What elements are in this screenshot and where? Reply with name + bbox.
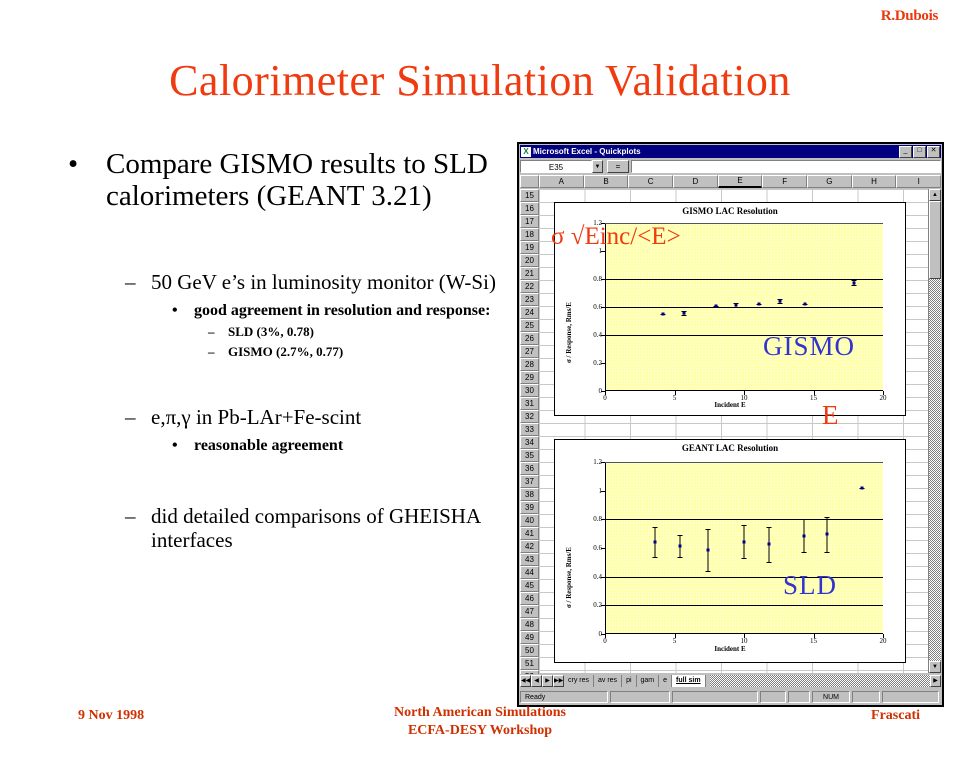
page-title: Calorimeter Simulation Validation bbox=[0, 55, 960, 106]
error-bar-cap bbox=[767, 527, 772, 528]
column-header-row: A B C D E F G H I bbox=[520, 175, 941, 188]
select-all-corner[interactable] bbox=[520, 175, 539, 188]
row-header-19[interactable]: 19 bbox=[520, 241, 539, 254]
data-point bbox=[706, 549, 709, 552]
excel-title-bar[interactable]: X Microsoft Excel - Quickplots _ □ ✕ bbox=[520, 145, 941, 158]
column-header-i[interactable]: I bbox=[896, 175, 941, 188]
plot-top-border bbox=[605, 462, 883, 463]
column-header-a[interactable]: A bbox=[539, 175, 584, 188]
maximize-button[interactable]: □ bbox=[913, 146, 926, 158]
excel-app-icon: X bbox=[521, 147, 531, 157]
bullet-marker-dot: • bbox=[172, 437, 194, 456]
bullet-marker-dash: – bbox=[208, 324, 228, 340]
y-tick-mark bbox=[601, 462, 605, 463]
error-bar-cap bbox=[678, 557, 683, 558]
row-header-27[interactable]: 27 bbox=[520, 345, 539, 358]
row-header-47[interactable]: 47 bbox=[520, 605, 539, 618]
row-header-29[interactable]: 29 bbox=[520, 371, 539, 384]
scrollbar-thumb[interactable] bbox=[929, 201, 941, 279]
data-point bbox=[758, 302, 761, 305]
bullet-level2-pblar: – e,π,γ in Pb-LAr+Fe-scint bbox=[125, 406, 498, 430]
bullet-level3-agreement: • good agreement in resolution and respo… bbox=[172, 302, 498, 321]
bullet-level4-sld: – SLD (3%, 0.78) bbox=[208, 324, 498, 340]
gismo-watermark: GISMO bbox=[763, 331, 855, 362]
bullet-level1-main: • Compare GISMO results to SLD calorimet… bbox=[68, 148, 498, 213]
data-point bbox=[852, 281, 855, 284]
row-header-37[interactable]: 37 bbox=[520, 475, 539, 488]
minimize-button[interactable]: _ bbox=[899, 146, 912, 158]
sheet-pane[interactable]: GISMO LAC Resolution 00.20.40.60.811.205… bbox=[539, 189, 928, 673]
y-tick-mark bbox=[601, 335, 605, 336]
data-point bbox=[802, 534, 805, 537]
x-tick-mark bbox=[605, 391, 606, 395]
sheet-tab-bar[interactable]: ◀◀ ◀ ▶ ▶▶ cry res av res pi gam e full s… bbox=[520, 674, 941, 688]
worksheet-area[interactable]: 1516171819202122232425262728293031323334… bbox=[520, 189, 941, 673]
horizontal-scrollbar[interactable] bbox=[710, 675, 930, 687]
formula-input[interactable] bbox=[631, 160, 941, 173]
error-bar-cap bbox=[733, 307, 738, 308]
status-bar: Ready NUM bbox=[520, 689, 941, 704]
error-bar-cap bbox=[682, 315, 687, 316]
bullet-marker-dash: – bbox=[125, 271, 151, 295]
row-header-34[interactable]: 34 bbox=[520, 436, 539, 449]
status-text: Ready bbox=[520, 691, 608, 703]
x-tick-mark bbox=[883, 634, 884, 638]
bullet-marker-dot: • bbox=[172, 302, 194, 321]
chart-title-geant: GEANT LAC Resolution bbox=[555, 443, 905, 453]
status-pane-6 bbox=[882, 691, 939, 703]
data-point bbox=[861, 486, 864, 489]
error-bar-cap bbox=[767, 562, 772, 563]
equals-icon[interactable]: = bbox=[607, 160, 629, 173]
bullet-level3-text-reasonable: reasonable agreement bbox=[194, 437, 343, 456]
bullet-level1-text: Compare GISMO results to SLD calorimeter… bbox=[106, 148, 498, 213]
bullet-level4-text-sld: SLD (3%, 0.78) bbox=[228, 324, 314, 340]
y-tick-mark bbox=[601, 307, 605, 308]
row-header-38[interactable]: 38 bbox=[520, 488, 539, 501]
status-pane-5 bbox=[852, 691, 880, 703]
footer-event-line2: ECFA-DESY Workshop bbox=[0, 722, 960, 740]
bullet-level2-text-gheisha: did detailed comparisons of GHEISHA inte… bbox=[151, 505, 498, 553]
x-tick-label: 10 bbox=[741, 637, 748, 645]
column-header-f[interactable]: F bbox=[762, 175, 807, 188]
x-tick-mark bbox=[883, 391, 884, 395]
row-header-15[interactable]: 15 bbox=[520, 189, 539, 202]
row-header-column: 1516171819202122232425262728293031323334… bbox=[520, 189, 539, 673]
error-bar-cap bbox=[742, 525, 747, 526]
tab-nav-next[interactable]: ▶ bbox=[542, 675, 553, 687]
footer-event-line1: North American Simulations bbox=[0, 704, 960, 722]
x-tick-label: 5 bbox=[673, 637, 677, 645]
row-header-40[interactable]: 40 bbox=[520, 514, 539, 527]
row-header-50[interactable]: 50 bbox=[520, 644, 539, 657]
scrollbar-track[interactable] bbox=[929, 279, 941, 661]
column-header-d[interactable]: D bbox=[673, 175, 718, 188]
data-point bbox=[683, 311, 686, 314]
x-axis-label-gismo: Incident E bbox=[555, 401, 905, 409]
sheet-tab-full-sim[interactable]: full sim bbox=[672, 675, 706, 687]
x-axis-label-geant: Incident E bbox=[555, 645, 905, 653]
y-axis-label-geant: σ / Response, Rms/E bbox=[565, 458, 573, 608]
bullet-level4-gismo: – GISMO (2.7%, 0.77) bbox=[208, 344, 498, 360]
status-num-indicator: NUM bbox=[812, 691, 850, 703]
data-point bbox=[662, 313, 665, 316]
row-header-16[interactable]: 16 bbox=[520, 202, 539, 215]
row-header-30[interactable]: 30 bbox=[520, 384, 539, 397]
bullet-marker-dash: – bbox=[208, 344, 228, 360]
bullet-list: • Compare GISMO results to SLD calorimet… bbox=[68, 148, 498, 553]
data-point bbox=[734, 303, 737, 306]
row-header-35[interactable]: 35 bbox=[520, 449, 539, 462]
data-point bbox=[743, 540, 746, 543]
row-header-33[interactable]: 33 bbox=[520, 423, 539, 436]
bullet-marker-dot: • bbox=[68, 148, 106, 213]
sheet-tab-cry-res[interactable]: cry res bbox=[564, 675, 594, 687]
column-header-e[interactable]: E bbox=[718, 175, 763, 188]
row-header-20[interactable]: 20 bbox=[520, 254, 539, 267]
row-header-44[interactable]: 44 bbox=[520, 566, 539, 579]
row-header-25[interactable]: 25 bbox=[520, 319, 539, 332]
row-header-45[interactable]: 45 bbox=[520, 579, 539, 592]
y-tick-mark bbox=[601, 519, 605, 520]
excel-window-title: Microsoft Excel - Quickplots bbox=[531, 147, 898, 156]
error-bar-cap bbox=[801, 519, 806, 520]
y-tick-mark bbox=[601, 577, 605, 578]
row-header-24[interactable]: 24 bbox=[520, 306, 539, 319]
row-header-39[interactable]: 39 bbox=[520, 501, 539, 514]
status-pane-1 bbox=[610, 691, 670, 703]
error-bar-cap bbox=[653, 527, 658, 528]
footer-event: North American Simulations ECFA-DESY Wor… bbox=[0, 704, 960, 740]
x-tick-mark bbox=[744, 391, 745, 395]
chart-title-gismo: GISMO LAC Resolution bbox=[555, 206, 905, 216]
x-tick-mark bbox=[605, 634, 606, 638]
row-header-41[interactable]: 41 bbox=[520, 527, 539, 540]
bullet-level2-text-pblar: e,π,γ in Pb-LAr+Fe-scint bbox=[151, 406, 361, 430]
bullet-level2-gheisha: – did detailed comparisons of GHEISHA in… bbox=[125, 505, 498, 553]
data-point bbox=[826, 533, 829, 536]
gridline bbox=[605, 519, 883, 520]
author-name: R.Dubois bbox=[881, 8, 938, 25]
row-header-36[interactable]: 36 bbox=[520, 462, 539, 475]
bullet-level2-text: 50 GeV e’s in luminosity monitor (W-Si) bbox=[151, 271, 496, 295]
row-header-17[interactable]: 17 bbox=[520, 215, 539, 228]
status-pane-2 bbox=[672, 691, 758, 703]
x-tick-label: 15 bbox=[810, 637, 817, 645]
x-tick-mark bbox=[675, 634, 676, 638]
row-header-23[interactable]: 23 bbox=[520, 293, 539, 306]
gridline bbox=[605, 605, 883, 606]
tab-nav-first[interactable]: ◀◀ bbox=[520, 675, 531, 687]
x-tick-mark bbox=[814, 391, 815, 395]
data-point bbox=[654, 540, 657, 543]
vertical-scrollbar[interactable]: ▲ ▼ bbox=[928, 189, 941, 673]
row-header-18[interactable]: 18 bbox=[520, 228, 539, 241]
error-bar-cap bbox=[801, 552, 806, 553]
bullet-marker-dash: – bbox=[125, 406, 151, 430]
y-tick-mark bbox=[601, 251, 605, 252]
scroll-down-icon[interactable]: ▼ bbox=[929, 661, 941, 673]
bullet-level4-text-gismo: GISMO (2.7%, 0.77) bbox=[228, 344, 343, 360]
x-tick-mark bbox=[675, 391, 676, 395]
sheet-tab-pi[interactable]: pi bbox=[622, 675, 636, 687]
tab-nav-prev[interactable]: ◀ bbox=[531, 675, 542, 687]
gridline bbox=[605, 307, 883, 308]
chevron-down-icon[interactable]: ▼ bbox=[592, 160, 603, 173]
y-tick-mark bbox=[601, 605, 605, 606]
bullet-marker-dash: – bbox=[125, 505, 151, 553]
tab-nav-last[interactable]: ▶▶ bbox=[553, 675, 564, 687]
row-header-43[interactable]: 43 bbox=[520, 553, 539, 566]
bullet-level2-luminosity: – 50 GeV e’s in luminosity monitor (W-Si… bbox=[125, 271, 498, 295]
column-header-g[interactable]: G bbox=[807, 175, 852, 188]
data-point bbox=[715, 304, 718, 307]
error-bar-cap bbox=[678, 535, 683, 536]
error-bar-cap bbox=[851, 285, 856, 286]
name-box[interactable]: E35 bbox=[520, 160, 592, 173]
data-point bbox=[679, 544, 682, 547]
sheet-tab-av-res[interactable]: av res bbox=[594, 675, 622, 687]
x-tick-label: 20 bbox=[880, 637, 887, 645]
formula-bar[interactable]: E35 ▼ = bbox=[520, 159, 941, 174]
row-header-31[interactable]: 31 bbox=[520, 397, 539, 410]
status-pane-3 bbox=[760, 691, 786, 703]
y-tick-mark bbox=[601, 279, 605, 280]
hscroll-right-icon[interactable]: ▶ bbox=[930, 675, 941, 687]
scroll-up-icon[interactable]: ▲ bbox=[929, 189, 941, 201]
y-tick-mark bbox=[601, 363, 605, 364]
x-tick-mark bbox=[744, 634, 745, 638]
error-bar-cap bbox=[825, 552, 830, 553]
gridline bbox=[605, 577, 883, 578]
row-header-32[interactable]: 32 bbox=[520, 410, 539, 423]
error-bar-cap bbox=[778, 303, 783, 304]
sld-watermark: SLD bbox=[783, 570, 837, 601]
data-point bbox=[779, 299, 782, 302]
row-header-48[interactable]: 48 bbox=[520, 618, 539, 631]
x-tick-mark bbox=[814, 634, 815, 638]
row-header-21[interactable]: 21 bbox=[520, 267, 539, 280]
row-header-26[interactable]: 26 bbox=[520, 332, 539, 345]
row-header-51[interactable]: 51 bbox=[520, 657, 539, 670]
error-bar-cap bbox=[825, 517, 830, 518]
column-header-h[interactable]: H bbox=[852, 175, 897, 188]
sheet-tab-gam[interactable]: gam bbox=[637, 675, 660, 687]
row-header-42[interactable]: 42 bbox=[520, 540, 539, 553]
sigma-formula-annotation: σ √Einc/<E> bbox=[551, 223, 681, 251]
error-bar-cap bbox=[653, 557, 658, 558]
bullet-level3-reasonable: • reasonable agreement bbox=[172, 437, 498, 456]
bullet-level3-text: good agreement in resolution and respons… bbox=[194, 302, 490, 321]
error-bar-cap bbox=[705, 571, 710, 572]
status-pane-4 bbox=[788, 691, 810, 703]
column-header-b[interactable]: B bbox=[584, 175, 629, 188]
x-tick-label: 0 bbox=[603, 637, 607, 645]
row-header-28[interactable]: 28 bbox=[520, 358, 539, 371]
data-point bbox=[804, 302, 807, 305]
error-bar-cap bbox=[705, 529, 710, 530]
row-header-22[interactable]: 22 bbox=[520, 280, 539, 293]
y-axis-geant bbox=[605, 462, 606, 634]
y-tick-mark bbox=[601, 491, 605, 492]
y-tick-mark bbox=[601, 548, 605, 549]
gridline bbox=[605, 279, 883, 280]
row-header-49[interactable]: 49 bbox=[520, 631, 539, 644]
chart-geant-lac-resolution[interactable]: GEANT LAC Resolution 00.20.40.60.811.205… bbox=[554, 439, 906, 663]
row-header-46[interactable]: 46 bbox=[520, 592, 539, 605]
energy-annotation: E bbox=[822, 400, 839, 431]
data-point bbox=[768, 543, 771, 546]
close-button[interactable]: ✕ bbox=[927, 146, 940, 158]
column-header-c[interactable]: C bbox=[628, 175, 673, 188]
error-bar-cap bbox=[742, 558, 747, 559]
sheet-tab-e[interactable]: e bbox=[659, 675, 672, 687]
plot-area-geant: 00.20.40.60.811.205101520 bbox=[605, 462, 883, 634]
